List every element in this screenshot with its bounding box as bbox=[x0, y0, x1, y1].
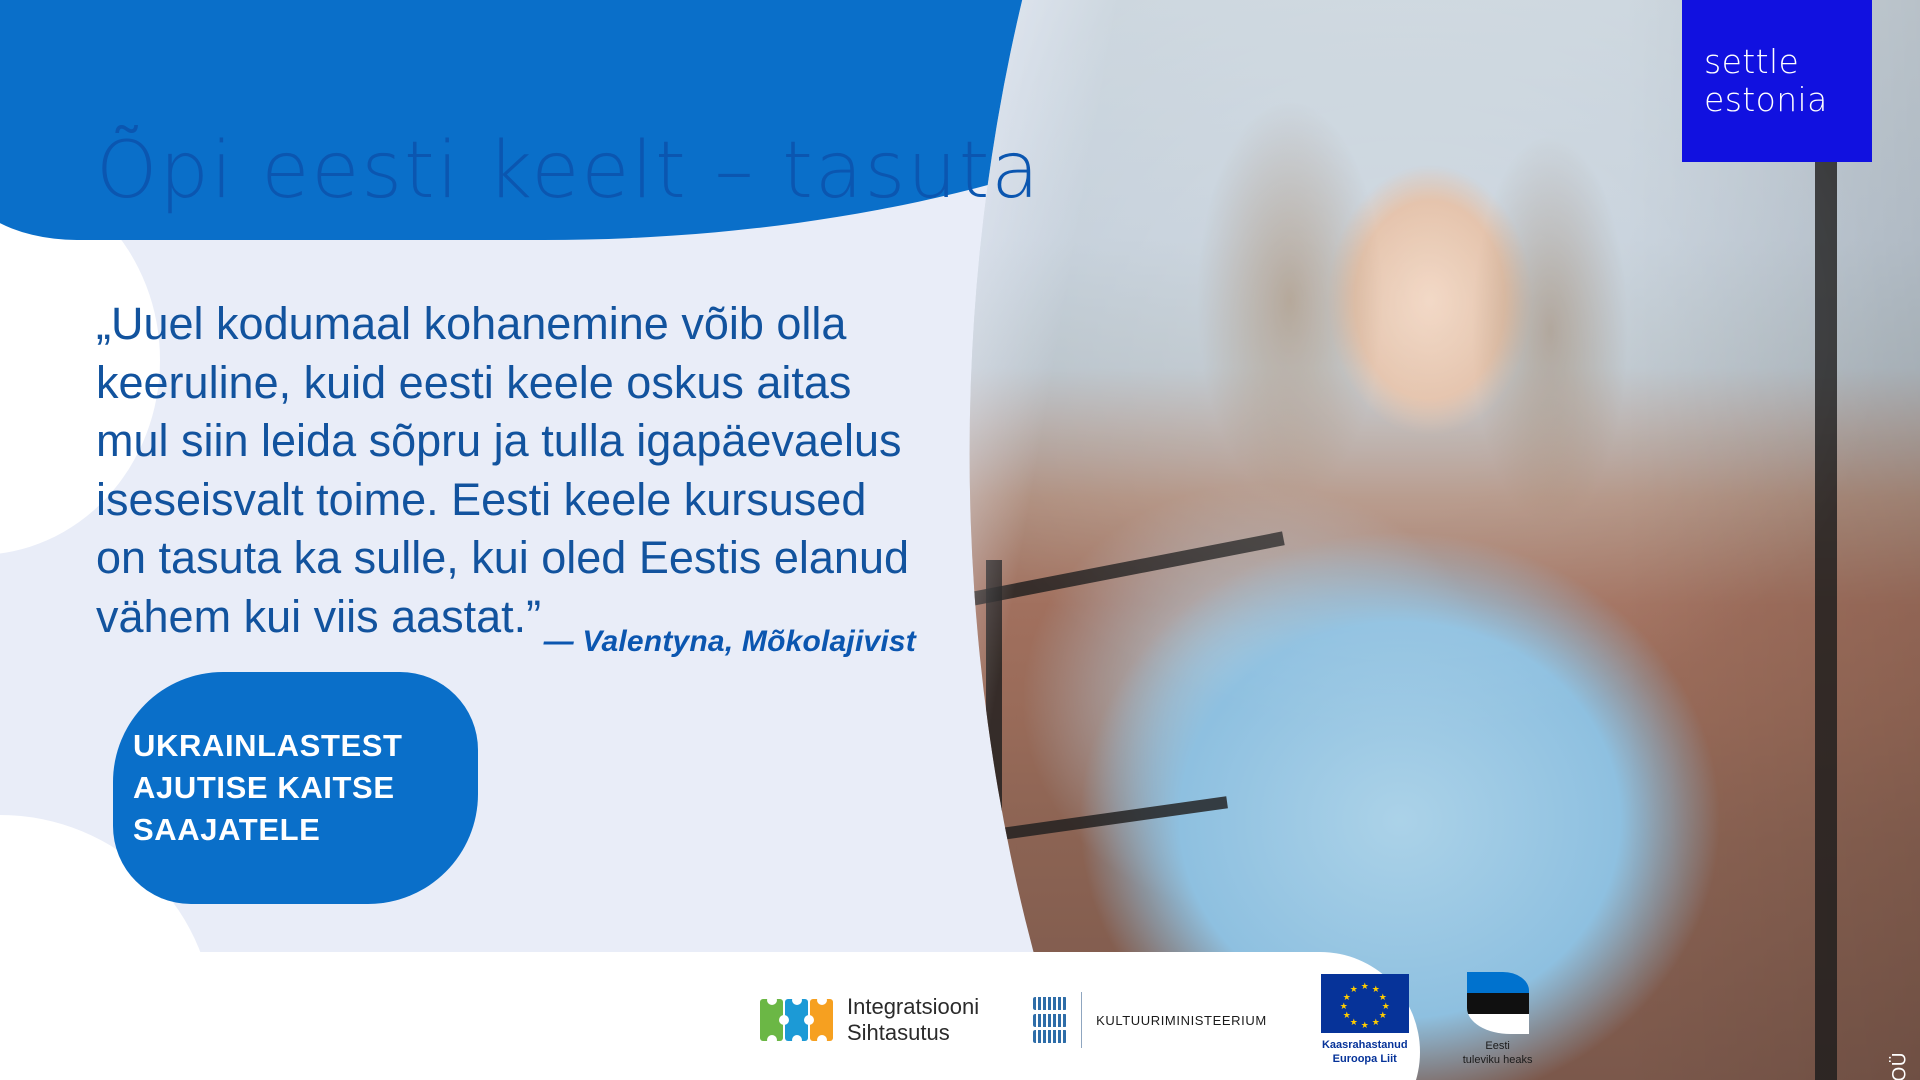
eu-star: ★ bbox=[1361, 1021, 1369, 1030]
portrait-photo bbox=[930, 0, 1920, 1080]
eu-star: ★ bbox=[1350, 985, 1358, 994]
badge-line: AJUTISE KAITSE bbox=[133, 767, 403, 809]
quote-line: iseseisvalt toime. Eesti keele kursused bbox=[96, 471, 916, 530]
photo-credit: Foto: A.G. Foto OÜ bbox=[1890, 1052, 1912, 1080]
caption-line: tuleviku heaks bbox=[1463, 1054, 1533, 1068]
heraldic-lion bbox=[1033, 1014, 1067, 1027]
partner-caption-eesti-tuleviku-heaks: Eesti tuleviku heaks bbox=[1463, 1040, 1533, 1068]
flag-stripe-white bbox=[1467, 1014, 1529, 1034]
quote-line: mul siin leida sõpru ja tulla igapäevael… bbox=[96, 412, 916, 471]
eu-star: ★ bbox=[1340, 1002, 1348, 1011]
partner-logo-row: Integratsiooni Sihtasutus Kultuuriminist… bbox=[760, 975, 1532, 1065]
partner-name-integratsiooni-sihtasutus: Integratsiooni Sihtasutus bbox=[847, 994, 979, 1046]
heraldic-lion bbox=[1033, 1030, 1067, 1043]
partner-name-line: Integratsiooni bbox=[847, 994, 979, 1020]
partner-caption-euroopa-liit: Kaasrahastanud Euroopa Liit bbox=[1321, 1039, 1409, 1067]
portrait-photo-edge-fade bbox=[930, 0, 1920, 1080]
page-title: Õpi eesti keelt – tasuta bbox=[96, 132, 1041, 210]
estonian-flag-wave-icon bbox=[1467, 972, 1529, 1034]
flag-stripe-blue bbox=[1467, 972, 1529, 993]
logo-line-settle: settle bbox=[1704, 43, 1872, 81]
eu-star: ★ bbox=[1343, 1011, 1351, 1020]
puzzle-knob bbox=[767, 995, 777, 1005]
puzzle-knob bbox=[804, 1015, 814, 1025]
eu-star: ★ bbox=[1372, 1018, 1380, 1027]
poster-canvas: Õpi eesti keelt – tasuta „Uuel kodumaal … bbox=[0, 0, 1920, 1080]
quote-line: keeruline, kuid eesti keele oskus aitas bbox=[96, 354, 916, 413]
logo-line-estonia: estonia bbox=[1704, 81, 1872, 119]
puzzle-knob bbox=[792, 995, 802, 1005]
quote-attribution: — Valentyna, Mõkolajivist bbox=[96, 625, 916, 659]
puzzle-pieces-icon bbox=[760, 995, 834, 1045]
puzzle-knob bbox=[779, 1015, 789, 1025]
puzzle-knob bbox=[792, 1035, 802, 1045]
audience-badge-text: UKRAINLASTEST AJUTISE KAITSE SAAJATELE bbox=[113, 725, 403, 851]
caption-line: Kaasrahastanud bbox=[1321, 1039, 1409, 1053]
partner-name-kultuuriministeerium: Kultuuriministeerium bbox=[1096, 1013, 1267, 1028]
partner-logo-euroopa-liit[interactable]: ★ ★ ★ ★ ★ ★ ★ ★ ★ ★ ★ ★ Kaasrahastanud E… bbox=[1321, 974, 1409, 1067]
puzzle-knob bbox=[767, 1035, 777, 1045]
quote-line: on tasuta ka sulle, kui oled Eestis elan… bbox=[96, 529, 916, 588]
partner-name-line: Sihtasutus bbox=[847, 1020, 979, 1046]
badge-line: UKRAINLASTEST bbox=[133, 725, 403, 767]
settle-estonia-logo[interactable]: settle estonia bbox=[1682, 0, 1872, 162]
partner-logo-eesti-tuleviku-heaks[interactable]: Eesti tuleviku heaks bbox=[1463, 972, 1533, 1068]
testimonial-quote: „Uuel kodumaal kohanemine võib olla keer… bbox=[96, 295, 916, 646]
flag-stripe-black bbox=[1467, 993, 1529, 1013]
eu-star: ★ bbox=[1343, 993, 1351, 1002]
caption-line: Euroopa Liit bbox=[1321, 1053, 1409, 1067]
partner-logo-kultuuriministeerium[interactable]: Kultuuriministeerium bbox=[1033, 992, 1267, 1048]
estonian-coat-of-arms-icon bbox=[1033, 997, 1067, 1043]
partner-logo-integratsiooni-sihtasutus[interactable]: Integratsiooni Sihtasutus bbox=[760, 994, 979, 1046]
puzzle-knob bbox=[817, 995, 827, 1005]
audience-badge: UKRAINLASTEST AJUTISE KAITSE SAAJATELE bbox=[113, 672, 478, 904]
vertical-divider bbox=[1081, 992, 1082, 1048]
quote-line: „Uuel kodumaal kohanemine võib olla bbox=[96, 295, 916, 354]
eu-star: ★ bbox=[1379, 1011, 1387, 1020]
eu-star: ★ bbox=[1350, 1018, 1358, 1027]
eu-flag-icon: ★ ★ ★ ★ ★ ★ ★ ★ ★ ★ ★ ★ bbox=[1321, 974, 1409, 1033]
heraldic-lion bbox=[1033, 997, 1067, 1010]
badge-line: SAAJATELE bbox=[133, 809, 403, 851]
eu-star: ★ bbox=[1361, 982, 1369, 991]
caption-line: Eesti bbox=[1463, 1040, 1533, 1054]
puzzle-knob bbox=[817, 1035, 827, 1045]
